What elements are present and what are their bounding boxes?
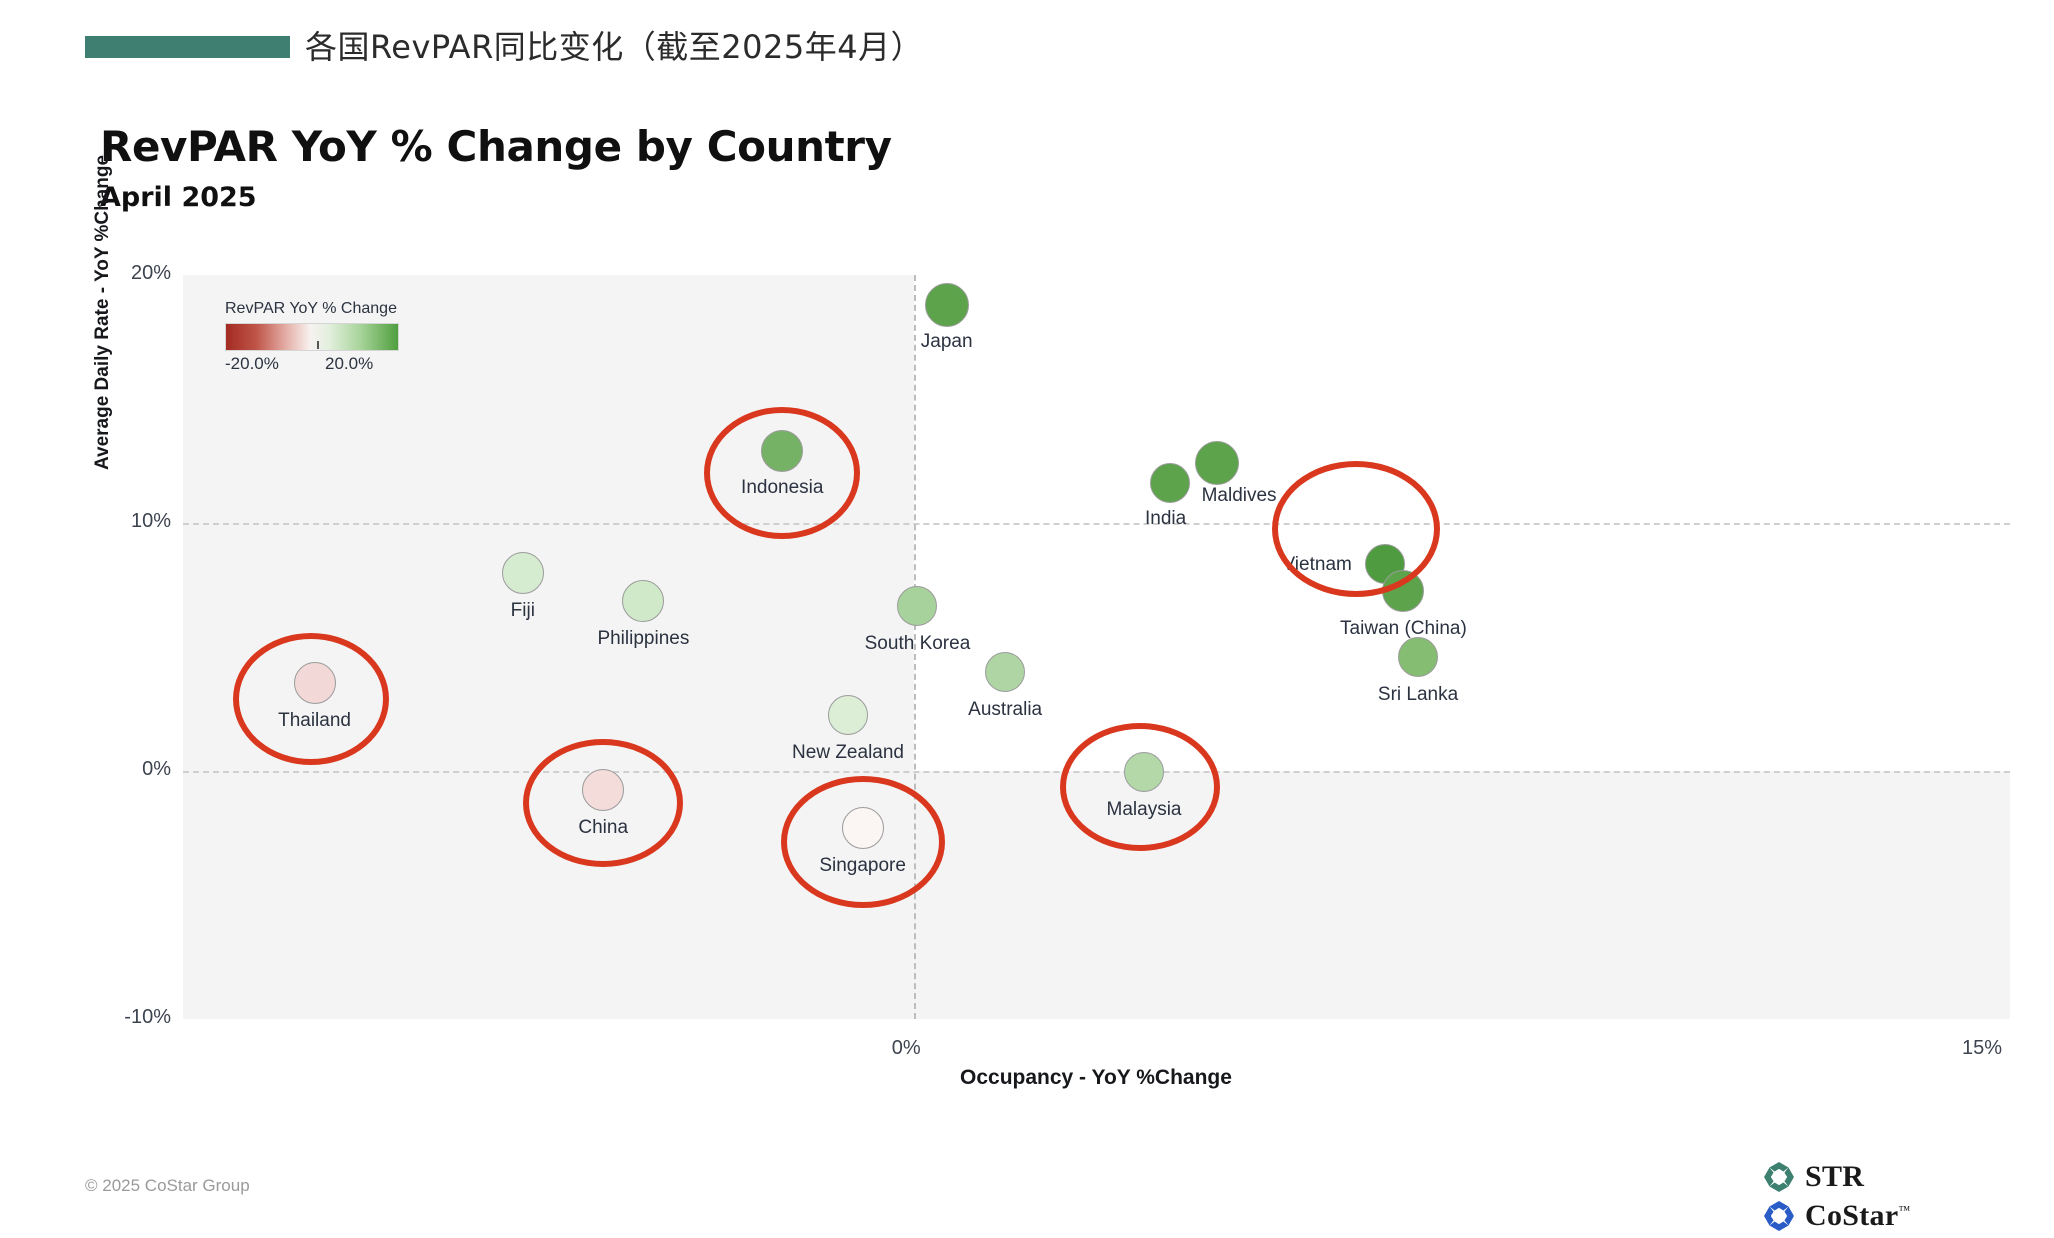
bubble-australia[interactable] (985, 652, 1025, 692)
y-axis-title: Average Daily Rate - YoY %Change (92, 155, 114, 470)
legend-min-label: -20.0% (225, 354, 279, 374)
costar-logo-text: CoStar™ (1805, 1199, 1911, 1233)
highlight-ellipse-china (523, 739, 683, 867)
bubble-label-new-zealand: New Zealand (792, 742, 904, 764)
x-axis-tick-label: 15% (1962, 1037, 2002, 1060)
costar-pinwheel-icon (1762, 1199, 1796, 1233)
highlight-ellipse-indonesia (704, 407, 860, 539)
y-axis-tick-label: 0% (101, 758, 171, 781)
bubble-label-japan: Japan (921, 331, 973, 353)
bubble-label-philippines: Philippines (597, 628, 689, 650)
legend-midpoint-tick (317, 341, 319, 349)
legend-gradient-bar (225, 323, 399, 351)
highlight-ellipse-vietnam (1272, 461, 1440, 597)
x-axis-title: Occupancy - YoY %Change (960, 1066, 1232, 1090)
scatter-chart: JapanIndonesiaMaldivesIndiaVietnamTaiwan… (0, 0, 2054, 1238)
costar-logo: CoStar™ (1762, 1199, 1911, 1233)
highlight-ellipse-thailand (233, 633, 389, 765)
bubble-india[interactable] (1150, 463, 1190, 503)
highlight-ellipse-singapore (781, 776, 945, 908)
gridline-horizontal (183, 523, 2010, 525)
y-axis-tick-label: -10% (101, 1006, 171, 1029)
trademark-mark: ™ (1898, 1203, 1910, 1217)
x-axis-tick-label: 0% (892, 1037, 921, 1060)
bubble-japan[interactable] (925, 283, 969, 327)
bubble-philippines[interactable] (622, 580, 664, 622)
bubble-fiji[interactable] (502, 552, 544, 594)
str-pinwheel-icon (1762, 1160, 1796, 1194)
bubble-label-fiji: Fiji (511, 600, 535, 622)
legend-max-label: 20.0% (325, 354, 373, 374)
bubble-label-australia: Australia (968, 699, 1042, 721)
bubble-maldives[interactable] (1195, 441, 1239, 485)
str-logo-text: STR (1805, 1160, 1864, 1194)
brand-logos: STR CoStar™ (1762, 1160, 2054, 1206)
str-logo: STR (1762, 1160, 1864, 1194)
bubble-label-sri-lanka: Sri Lanka (1378, 684, 1458, 706)
bubble-south-korea[interactable] (897, 586, 937, 626)
legend-title: RevPAR YoY % Change (225, 300, 405, 318)
bubble-label-taiwan-china: Taiwan (China) (1340, 618, 1467, 640)
bubble-label-south-korea: South Korea (865, 633, 971, 655)
plot-area: JapanIndonesiaMaldivesIndiaVietnamTaiwan… (183, 275, 2010, 1019)
bubble-label-india: India (1145, 508, 1186, 530)
highlight-ellipse-malaysia (1060, 723, 1220, 851)
bubble-label-maldives: Maldives (1202, 485, 1277, 507)
bubble-new-zealand[interactable] (828, 695, 868, 735)
bubble-sri-lanka[interactable] (1398, 637, 1438, 677)
copyright-text: © 2025 CoStar Group (85, 1176, 250, 1196)
y-axis-tick-label: 10% (101, 510, 171, 533)
color-legend: RevPAR YoY % Change -20.0% 20.0% (225, 300, 405, 351)
